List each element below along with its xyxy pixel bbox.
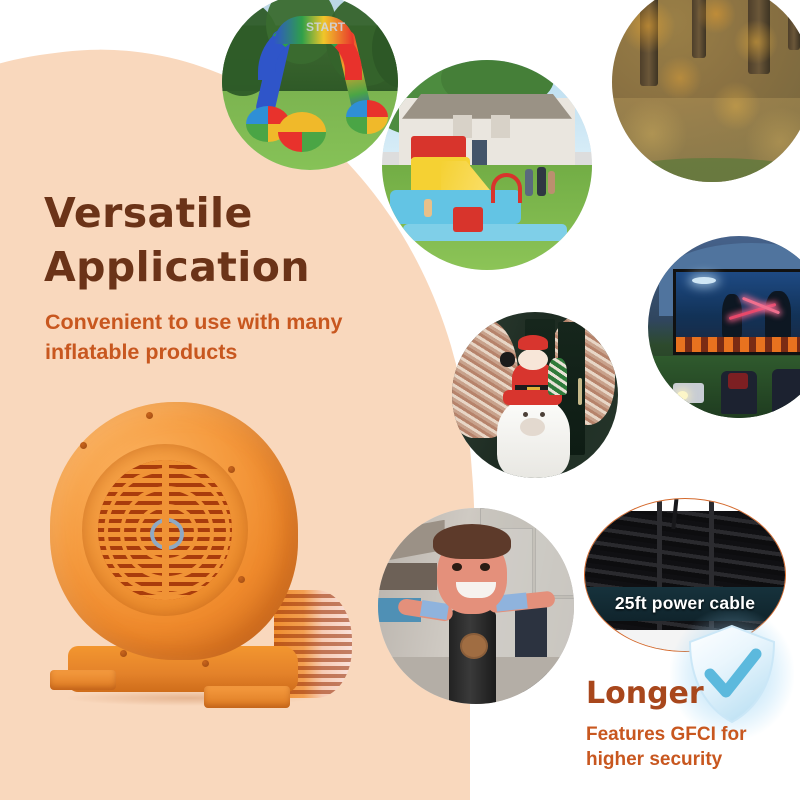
- longer-subtitle-line-1: Features GFCI for: [586, 722, 800, 747]
- blower-intake-grille: [98, 460, 232, 600]
- photo-inflatable-santa-polar-bear: [452, 312, 618, 478]
- longer-subtitle-line-2: higher security: [586, 747, 800, 772]
- photo-outdoor-inflatable-movie-screen: [648, 236, 800, 418]
- photo-inflatable-rainbow-arch: START: [222, 0, 398, 170]
- longer-heading: Longer: [586, 676, 704, 711]
- headline-line-1: Versatile: [44, 186, 464, 240]
- longer-subtitle-block: Features GFCI for higher security: [586, 722, 800, 773]
- subtitle-block: Convenient to use with many inflatable p…: [45, 308, 405, 367]
- subtitle-line-1: Convenient to use with many: [45, 308, 405, 338]
- blower-foot-right: [204, 686, 290, 708]
- marketing-image-canvas: START: [0, 0, 800, 800]
- blower-foot-left: [50, 670, 116, 690]
- subtitle-line-2: inflatable products: [45, 338, 405, 368]
- product-inflatable-air-blower: [42, 398, 372, 738]
- headline-line-2: Application: [44, 240, 464, 294]
- photo-inflatable-air-dancer-tube-man: [378, 508, 574, 704]
- photo-autumn-leaves-ground: [612, 0, 800, 182]
- headline-block: Versatile Application: [44, 186, 464, 294]
